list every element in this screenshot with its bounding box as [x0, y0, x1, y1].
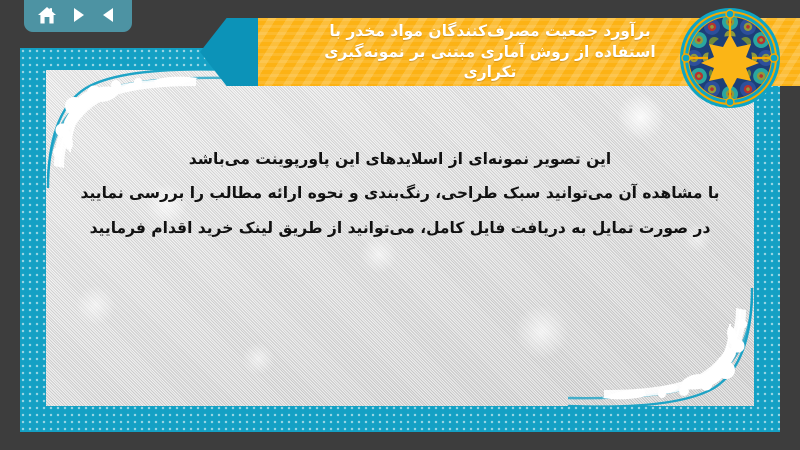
page-title: برآورد جمعیت مصرف‌کنندگان مواد مخدر با ا…	[324, 21, 655, 82]
next-slide-button[interactable]	[65, 3, 91, 27]
body-line-3: در صورت تمایل به دریافت فایل کامل، می‌تو…	[80, 211, 720, 245]
slide-content-panel: این تصویر نمونه‌ای از اسلایدهای این پاور…	[46, 70, 754, 406]
body-line-2: با مشاهده آن می‌توانید سبک طراحی، رنگ‌بن…	[80, 176, 720, 210]
triangle-left-icon	[100, 6, 118, 24]
slide-root: این تصویر نمونه‌ای از اسلایدهای این پاور…	[0, 0, 800, 450]
home-button[interactable]	[34, 3, 60, 27]
previous-slide-button[interactable]	[96, 3, 122, 27]
slide-body-text: این تصویر نمونه‌ای از اسلایدهای این پاور…	[46, 142, 754, 245]
home-icon	[37, 6, 57, 25]
triangle-right-icon	[69, 6, 87, 24]
arabesque-corner-flourish-bottom-right	[564, 256, 754, 406]
navigation-bar	[24, 0, 132, 32]
body-line-1: این تصویر نمونه‌ای از اسلایدهای این پاور…	[80, 142, 720, 176]
slide-frame: این تصویر نمونه‌ای از اسلایدهای این پاور…	[20, 48, 780, 432]
islamic-medallion-ornament	[678, 6, 782, 110]
